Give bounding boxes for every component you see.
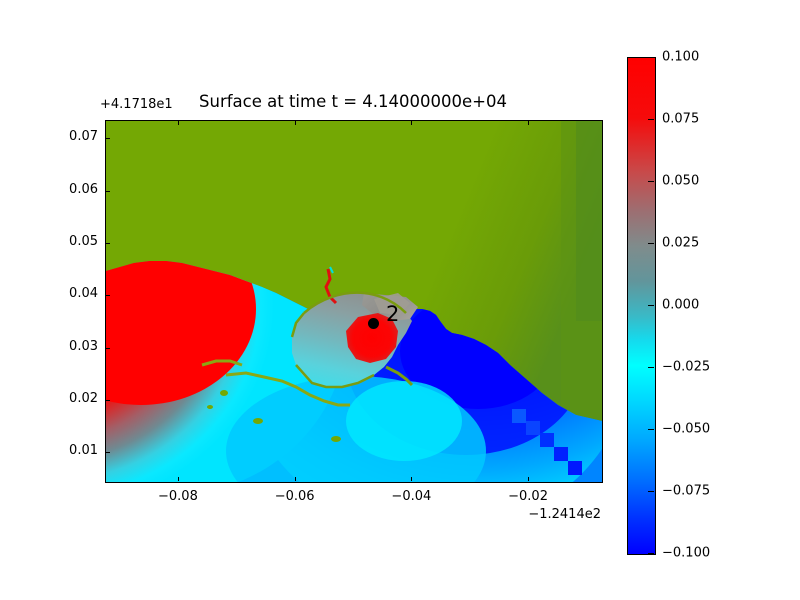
x-tick-mark-top-0 <box>178 121 179 125</box>
colorbar-tick-mark-6 <box>648 429 654 430</box>
x-tick-label-3: −0.02 <box>508 489 548 504</box>
colorbar-tick-mark-5 <box>648 367 654 368</box>
y-tick-label-0: 0.01 <box>69 443 98 458</box>
colorbar <box>627 57 656 555</box>
colorbar-gradient <box>628 58 655 554</box>
x-tick-mark-3 <box>528 477 529 481</box>
x-tick-label-0: −0.08 <box>158 489 198 504</box>
x-tick-label-1: −0.06 <box>275 489 315 504</box>
islet-1 <box>220 390 228 396</box>
land-shade-northeast <box>576 121 602 321</box>
y-tick-mark-4 <box>106 243 110 244</box>
y-tick-label-2: 0.03 <box>69 339 98 354</box>
x-tick-mark-1 <box>295 477 296 481</box>
x-tick-mark-2 <box>411 477 412 481</box>
colorbar-tick-label-3: 0.025 <box>662 236 699 251</box>
figure-canvas: +4.1718e1 Surface at time t = 4.14000000… <box>0 0 800 600</box>
islet-3 <box>331 436 341 442</box>
gauge-marker-2[interactable] <box>368 318 379 329</box>
cyan-bright-spot <box>346 381 462 461</box>
y-tick-label-6: 0.07 <box>69 129 98 144</box>
colorbar-tick-mark-1 <box>648 119 654 120</box>
y-tick-mark-3 <box>106 295 110 296</box>
y-tick-label-4: 0.05 <box>69 234 98 249</box>
x-tick-mark-top-3 <box>528 121 529 125</box>
colorbar-tick-mark-8 <box>648 553 654 554</box>
y-tick-mark-5 <box>106 191 110 192</box>
y-tick-label-5: 0.06 <box>69 182 98 197</box>
colorbar-tick-label-8: −0.100 <box>662 546 710 561</box>
x-tick-mark-0 <box>178 477 179 481</box>
colorbar-tick-label-5: −0.025 <box>662 360 710 375</box>
colorbar-tick-label-0: 0.100 <box>662 50 699 65</box>
colorbar-tick-mark-4 <box>648 305 654 306</box>
colorbar-tick-label-1: 0.075 <box>662 112 699 127</box>
plot-title: Surface at time t = 4.14000000e+04 <box>105 92 601 112</box>
colorbar-tick-label-7: −0.075 <box>662 484 710 499</box>
gauge-label-2: 2 <box>386 304 399 325</box>
colorbar-tick-label-2: 0.050 <box>662 174 699 189</box>
y-tick-label-1: 0.02 <box>69 391 98 406</box>
y-tick-mark-2 <box>106 348 110 349</box>
colorbar-tick-mark-3 <box>648 243 654 244</box>
y-tick-label-3: 0.04 <box>69 286 98 301</box>
colorbar-tick-mark-2 <box>648 181 654 182</box>
islet-2 <box>253 418 263 424</box>
colorbar-tick-mark-7 <box>648 491 654 492</box>
islet-4 <box>207 405 213 409</box>
colorbar-tick-label-4: 0.000 <box>662 298 699 313</box>
y-tick-mark-0 <box>106 452 110 453</box>
surface-elevation-field <box>106 121 602 482</box>
surface-field-svg <box>106 121 602 482</box>
y-tick-mark-6 <box>106 138 110 139</box>
x-tick-mark-top-1 <box>295 121 296 125</box>
x-tick-mark-top-2 <box>411 121 412 125</box>
x-axis-offset-text: −1.2414e2 <box>528 507 601 522</box>
colorbar-tick-label-6: −0.050 <box>662 422 710 437</box>
plot-axes <box>105 120 603 483</box>
x-tick-label-2: −0.04 <box>391 489 431 504</box>
y-tick-mark-1 <box>106 400 110 401</box>
